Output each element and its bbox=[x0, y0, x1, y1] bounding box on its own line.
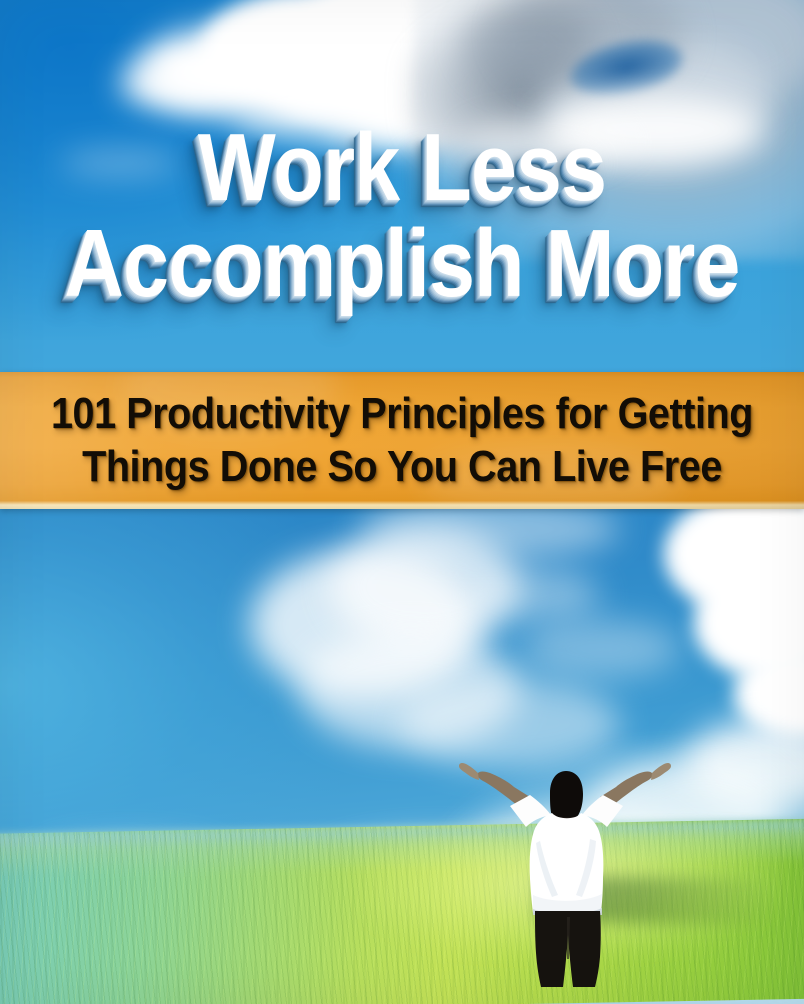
title-line-2: Accomplish More bbox=[56, 216, 747, 312]
cloud-wisp bbox=[470, 569, 600, 619]
person-silhouette bbox=[440, 745, 690, 995]
title-line-1: Work Less bbox=[56, 120, 747, 216]
cover-title-block: Work Less Accomplish More bbox=[0, 0, 804, 372]
subtitle-line-1: 101 Productivity Principles for Getting bbox=[40, 392, 764, 436]
subtitle-banner: 101 Productivity Principles for Getting … bbox=[0, 372, 804, 509]
cloud-wisp bbox=[520, 619, 680, 679]
book-cover: Work Less Accomplish More 101 Productivi… bbox=[0, 0, 804, 1004]
subtitle-line-2: Things Done So You Can Live Free bbox=[40, 445, 764, 489]
bottom-photo bbox=[0, 509, 804, 1004]
